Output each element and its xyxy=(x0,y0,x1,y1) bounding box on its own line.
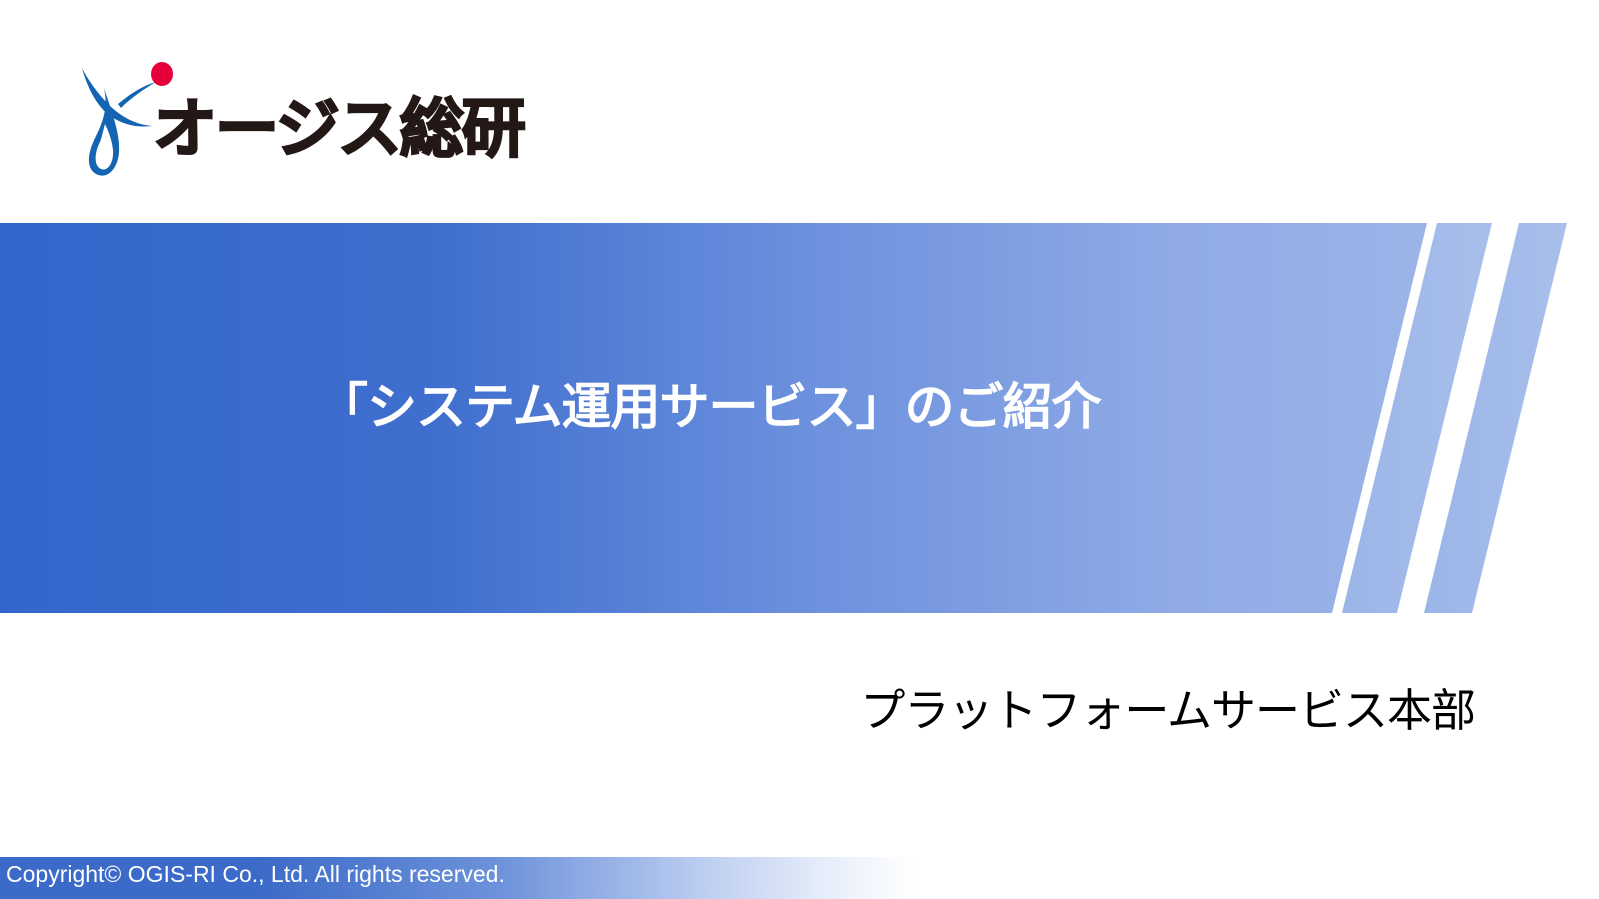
department-subtitle: プラットフォームサービス本部 xyxy=(860,685,1475,737)
copyright-text: Copyright© OGIS-RI Co., Ltd. All rights … xyxy=(6,862,505,887)
company-logo: オージス総研 xyxy=(74,52,554,182)
page-title: 「システム運用サービス」のご紹介 xyxy=(318,377,1101,437)
company-wordmark: オージス総研 xyxy=(153,98,524,162)
title-slide: オージス総研 xyxy=(0,0,1599,899)
